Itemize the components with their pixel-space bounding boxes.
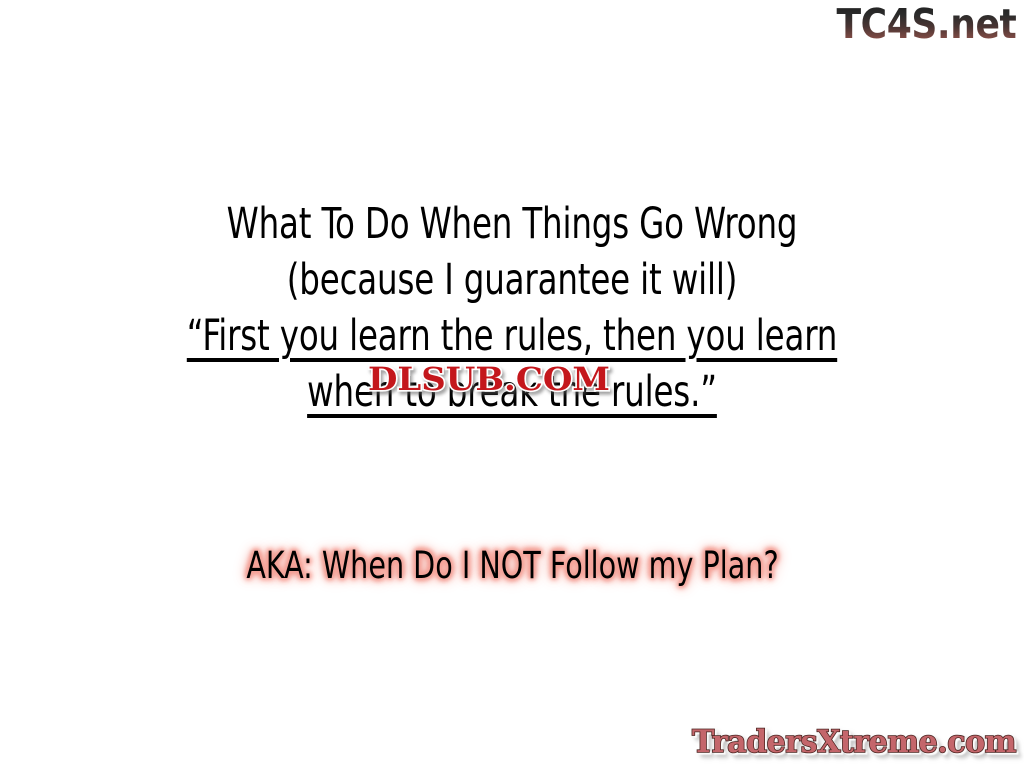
dlsub-watermark: DLSUB.COM (368, 360, 610, 398)
body-line-1: What To Do When Things Go Wrong (82, 196, 942, 252)
site-brand-bottom-right: TradersXtreme.com (692, 724, 1016, 760)
presentation-slide: TC4S.net What To Do When Things Go Wrong… (0, 0, 1024, 768)
body-line-3-quote-part1: “First you learn the rules, then you lea… (82, 308, 942, 364)
dlsub-watermark-text: DLSUB.COM (368, 360, 610, 398)
body-line-2: (because I guarantee it will) (82, 252, 942, 308)
aka-subtitle-text: AKA: When Do I NOT Follow my Plan? (246, 543, 778, 589)
aka-subtitle: AKA: When Do I NOT Follow my Plan? (0, 543, 1024, 589)
site-brand-top-right: TC4S.net (836, 2, 1016, 47)
